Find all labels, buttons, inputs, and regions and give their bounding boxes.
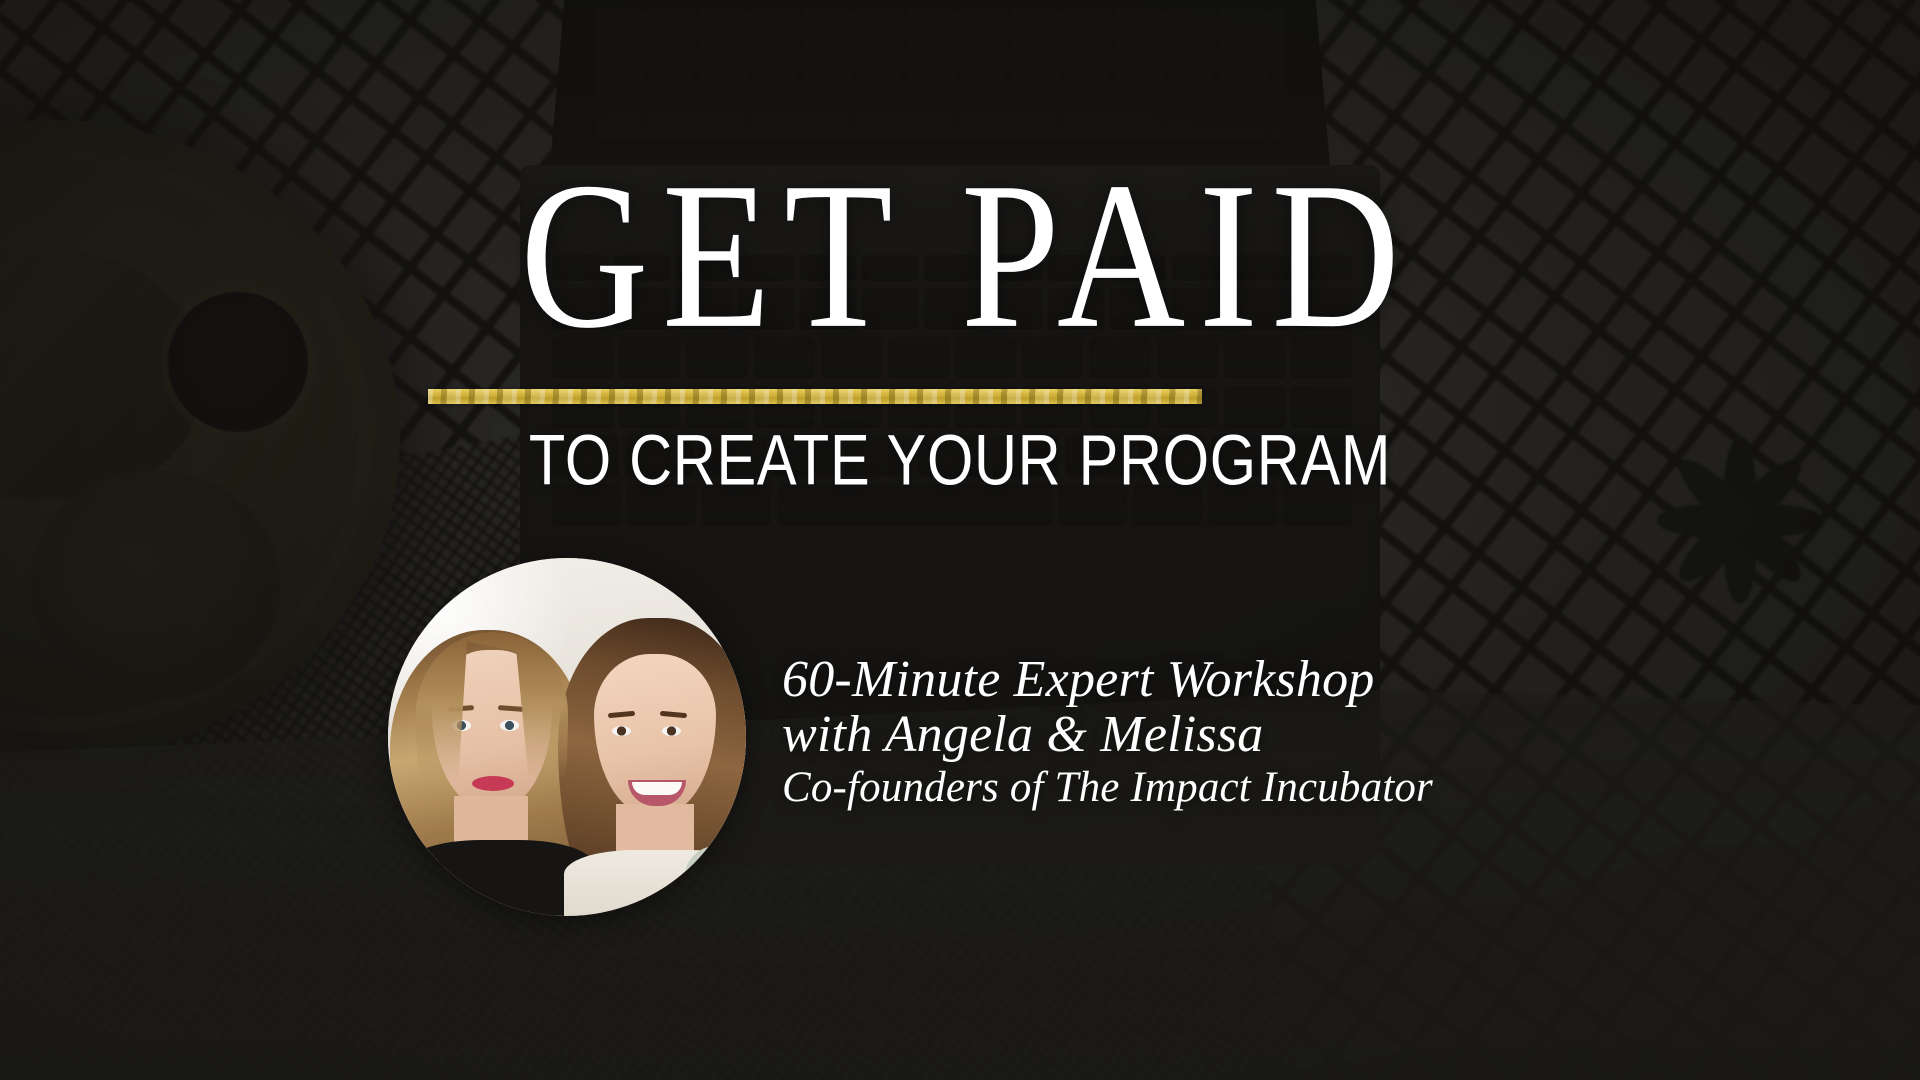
person-left-eye-right <box>500 720 519 731</box>
workshop-hosts-line: with Angela & Melissa <box>782 707 1433 762</box>
avatar <box>388 558 746 916</box>
person-left-lips <box>472 776 514 791</box>
person-right-teeth <box>632 782 682 795</box>
workshop-details: 60-Minute Expert Workshop with Angela & … <box>782 652 1433 812</box>
banner-content: GET PAID TO CREATE YOUR PROGRAM <box>0 0 1920 1080</box>
person-right-cardigan <box>684 846 746 916</box>
gold-divider <box>428 389 1202 404</box>
page-subtitle: TO CREATE YOUR PROGRAM <box>67 424 1853 496</box>
person-right-eye-left <box>612 726 631 736</box>
person-right-eye-right <box>662 726 681 736</box>
page-title: GET PAID <box>0 150 1920 360</box>
promo-banner: GET PAID TO CREATE YOUR PROGRAM <box>0 0 1920 1080</box>
workshop-credentials-line: Co-founders of The Impact Incubator <box>782 764 1433 812</box>
workshop-title-line: 60-Minute Expert Workshop <box>782 652 1433 707</box>
